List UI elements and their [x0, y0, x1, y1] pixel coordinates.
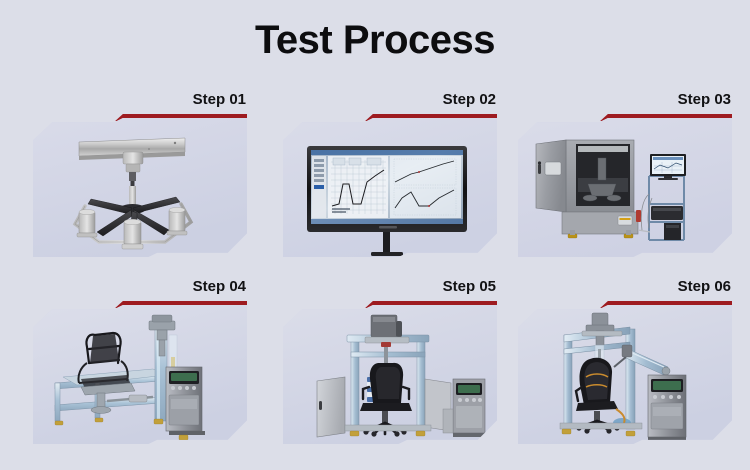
step-card-02[interactable]: Step 02: [283, 92, 497, 257]
step-image-04: [33, 305, 247, 444]
backrest-durability-test-rig-image: [518, 305, 732, 444]
step-image-02: [283, 118, 497, 257]
step-label-01: Step 01: [193, 92, 246, 107]
step-image-05: [283, 305, 497, 444]
step-card-05[interactable]: Step 05: [283, 279, 497, 444]
step-label-03: Step 03: [678, 92, 731, 107]
step-label-05: Step 05: [443, 279, 496, 294]
chair-base-durability-test-fixture-image: [33, 118, 247, 257]
step-card-01[interactable]: Step 01: [33, 92, 247, 257]
page-title: Test Process: [0, 18, 750, 62]
step-card-03[interactable]: Step 03: [518, 92, 732, 257]
test-software-monitor-display-image: [283, 118, 497, 257]
step-label-04: Step 04: [193, 279, 246, 294]
step-image-01: [33, 118, 247, 257]
step-label-06: Step 06: [678, 279, 731, 294]
step-image-03: [518, 118, 732, 257]
chair-frame-horizontal-fatigue-bench-image: [33, 305, 247, 444]
step-grid: Step 01: [33, 92, 718, 447]
step-card-04[interactable]: Step 04: [33, 279, 247, 444]
step-label-02: Step 02: [443, 92, 496, 107]
seat-static-load-test-rig-image: [283, 305, 497, 444]
step-card-06[interactable]: Step 06: [518, 279, 732, 444]
step-image-06: [518, 305, 732, 444]
enclosed-test-chamber-with-workstation-image: [518, 118, 732, 257]
